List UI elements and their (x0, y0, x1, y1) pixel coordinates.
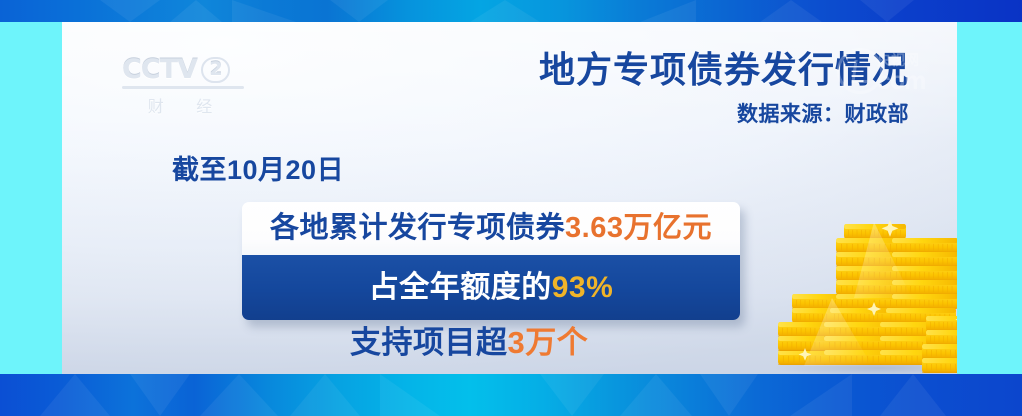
stat-white-label: 各地累计发行专项债券 (270, 212, 565, 244)
statistics-card: 各地累计发行专项债券3.63万亿元 占全年额度的93% (242, 202, 740, 320)
channel-number: 2 (201, 57, 230, 83)
stat-line-value: 3万个 (508, 325, 589, 360)
top-decorative-bar (0, 0, 1022, 22)
broadcast-graphic-frame: CCTV 2 财 经 地方专项债券发行情况 数据来源：财政部 央视网 com 截… (0, 0, 1022, 416)
stat-white-value: 3.63万亿元 (565, 212, 712, 244)
cctv2-logo: CCTV 2 财 经 (122, 56, 252, 118)
as-of-date: 截至10月20日 (172, 148, 344, 187)
stat-blue-label: 占全年额度的 (369, 271, 552, 304)
stat-row-blue-text: 占全年额度的93% (369, 273, 614, 303)
stat-supported-projects: 支持项目超3万个 (350, 327, 588, 358)
gold-coin-stacks-illustration (762, 202, 957, 374)
stat-blue-value: 93% (552, 271, 614, 304)
stat-row-annual-quota-share: 占全年额度的93% (242, 255, 740, 320)
stat-row-white-text: 各地累计发行专项债券3.63万亿元 (270, 214, 712, 243)
page-title: 地方专项债券发行情况 (539, 50, 909, 90)
logo-underline (122, 86, 244, 89)
channel-name-label: 财 经 (122, 93, 252, 117)
content-panel: CCTV 2 财 经 地方专项债券发行情况 数据来源：财政部 央视网 com 截… (62, 22, 957, 374)
data-source-label: 数据来源：财政部 (539, 98, 909, 128)
bottom-decorative-bar (0, 374, 1022, 416)
stat-line-label: 支持项目超 (350, 325, 508, 360)
cctv-letters: CCTV (122, 56, 197, 83)
headline-block: 地方专项债券发行情况 数据来源：财政部 (539, 50, 909, 128)
cctv-wordmark: CCTV 2 (122, 56, 252, 83)
stat-row-total-issuance: 各地累计发行专项债券3.63万亿元 (242, 202, 740, 255)
